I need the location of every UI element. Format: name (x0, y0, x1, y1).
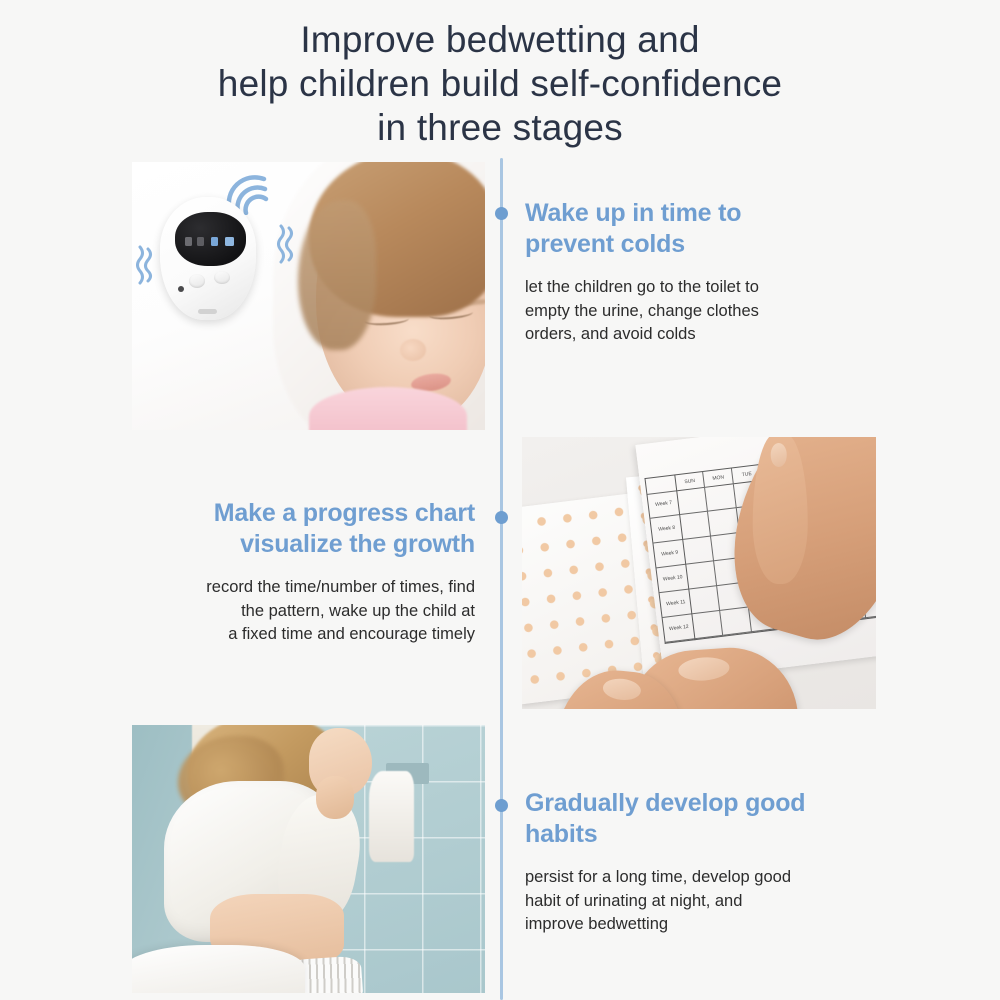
chart-cell (721, 607, 753, 635)
stage-2-heading: Make a progress chart visualize the grow… (130, 498, 475, 560)
stage-1-body: let the children go to the toilet to emp… (525, 276, 885, 347)
display-icon-4 (225, 237, 234, 246)
chart-cell (683, 537, 715, 565)
chart-cell (706, 484, 738, 512)
photo-progress-chart-and-stickers: Dry Wet Week 7 Week 8 Week 9 Week 10 Wee… (522, 437, 876, 709)
stage-3-heading-line-1: Gradually develop good (525, 788, 885, 819)
index-finger (753, 437, 808, 584)
stage-1-text-block: Wake up in time to prevent colds let the… (525, 198, 885, 347)
device-button-left (189, 274, 205, 288)
stage-1-heading-line-2: prevent colds (525, 229, 885, 260)
toilet-seat (132, 945, 305, 993)
page-title: Improve bedwetting and help children bui… (0, 18, 1000, 150)
stage-2-body-line-2: the pattern, wake up the child at (130, 600, 475, 624)
stage-2-body-line-1: record the time/number of times, find (130, 576, 475, 600)
photo-sleeping-child-with-alarm (132, 162, 485, 430)
stage-3-body: persist for a long time, develop good ha… (525, 866, 885, 937)
fingernail (602, 677, 642, 702)
bedwetting-alarm-device (160, 197, 255, 320)
stage-3-body-line-3: improve bedwetting (525, 913, 885, 937)
stage-1-heading: Wake up in time to prevent colds (525, 198, 885, 260)
device-display-screen (175, 212, 246, 266)
stage-3-body-line-1: persist for a long time, develop good (525, 866, 885, 890)
page-title-line-2: help children build self-confidence (0, 62, 1000, 106)
timeline-dot-stage-3 (495, 799, 508, 812)
chart-cell (686, 561, 718, 589)
infographic-page: Improve bedwetting and help children bui… (0, 0, 1000, 1000)
timeline-vertical-line (500, 158, 503, 1000)
chart-cell (690, 586, 722, 614)
timeline-dot-stage-2 (495, 511, 508, 524)
photo-child-on-toilet (132, 725, 485, 993)
stage-2-body-line-3: a fixed time and encourage timely (130, 623, 475, 647)
page-title-line-3: in three stages (0, 106, 1000, 150)
stage-1-body-line-3: orders, and avoid colds (525, 323, 885, 347)
stage-1-heading-line-1: Wake up in time to (525, 198, 885, 229)
page-title-line-1: Improve bedwetting and (0, 18, 1000, 62)
stage-1-body-line-2: empty the urine, change clothes (525, 300, 885, 324)
stage-2-text-block: Make a progress chart visualize the grow… (130, 498, 475, 647)
display-icon-1 (185, 237, 192, 246)
fingernail (771, 443, 788, 467)
device-button-right (214, 271, 230, 285)
device-speaker-slot (198, 309, 217, 314)
stage-3-body-line-2: habit of urinating at night, and (525, 890, 885, 914)
toilet-paper-roll (369, 771, 415, 862)
device-led-indicator (178, 286, 184, 292)
timeline-dot-stage-1 (495, 207, 508, 220)
chart-cell (677, 487, 709, 515)
stage-3-heading: Gradually develop good habits (525, 788, 885, 850)
fingernail (678, 656, 730, 682)
vibration-waves-left-icon (136, 245, 158, 285)
stage-2-heading-line-2: visualize the growth (130, 529, 475, 560)
display-icon-2 (197, 237, 204, 246)
vibration-waves-right-icon (277, 224, 299, 264)
nose-shape (400, 339, 426, 361)
child-hand-on-chin (316, 776, 355, 819)
stage-1-body-line-1: let the children go to the toilet to (525, 276, 885, 300)
chart-cell (693, 611, 725, 639)
display-icon-3 (211, 237, 218, 246)
stage-3-heading-line-2: habits (525, 819, 885, 850)
stage-2-heading-line-1: Make a progress chart (130, 498, 475, 529)
chart-cell (680, 512, 712, 540)
stage-2-body: record the time/number of times, find th… (130, 576, 475, 647)
stage-3-text-block: Gradually develop good habits persist fo… (525, 788, 885, 937)
